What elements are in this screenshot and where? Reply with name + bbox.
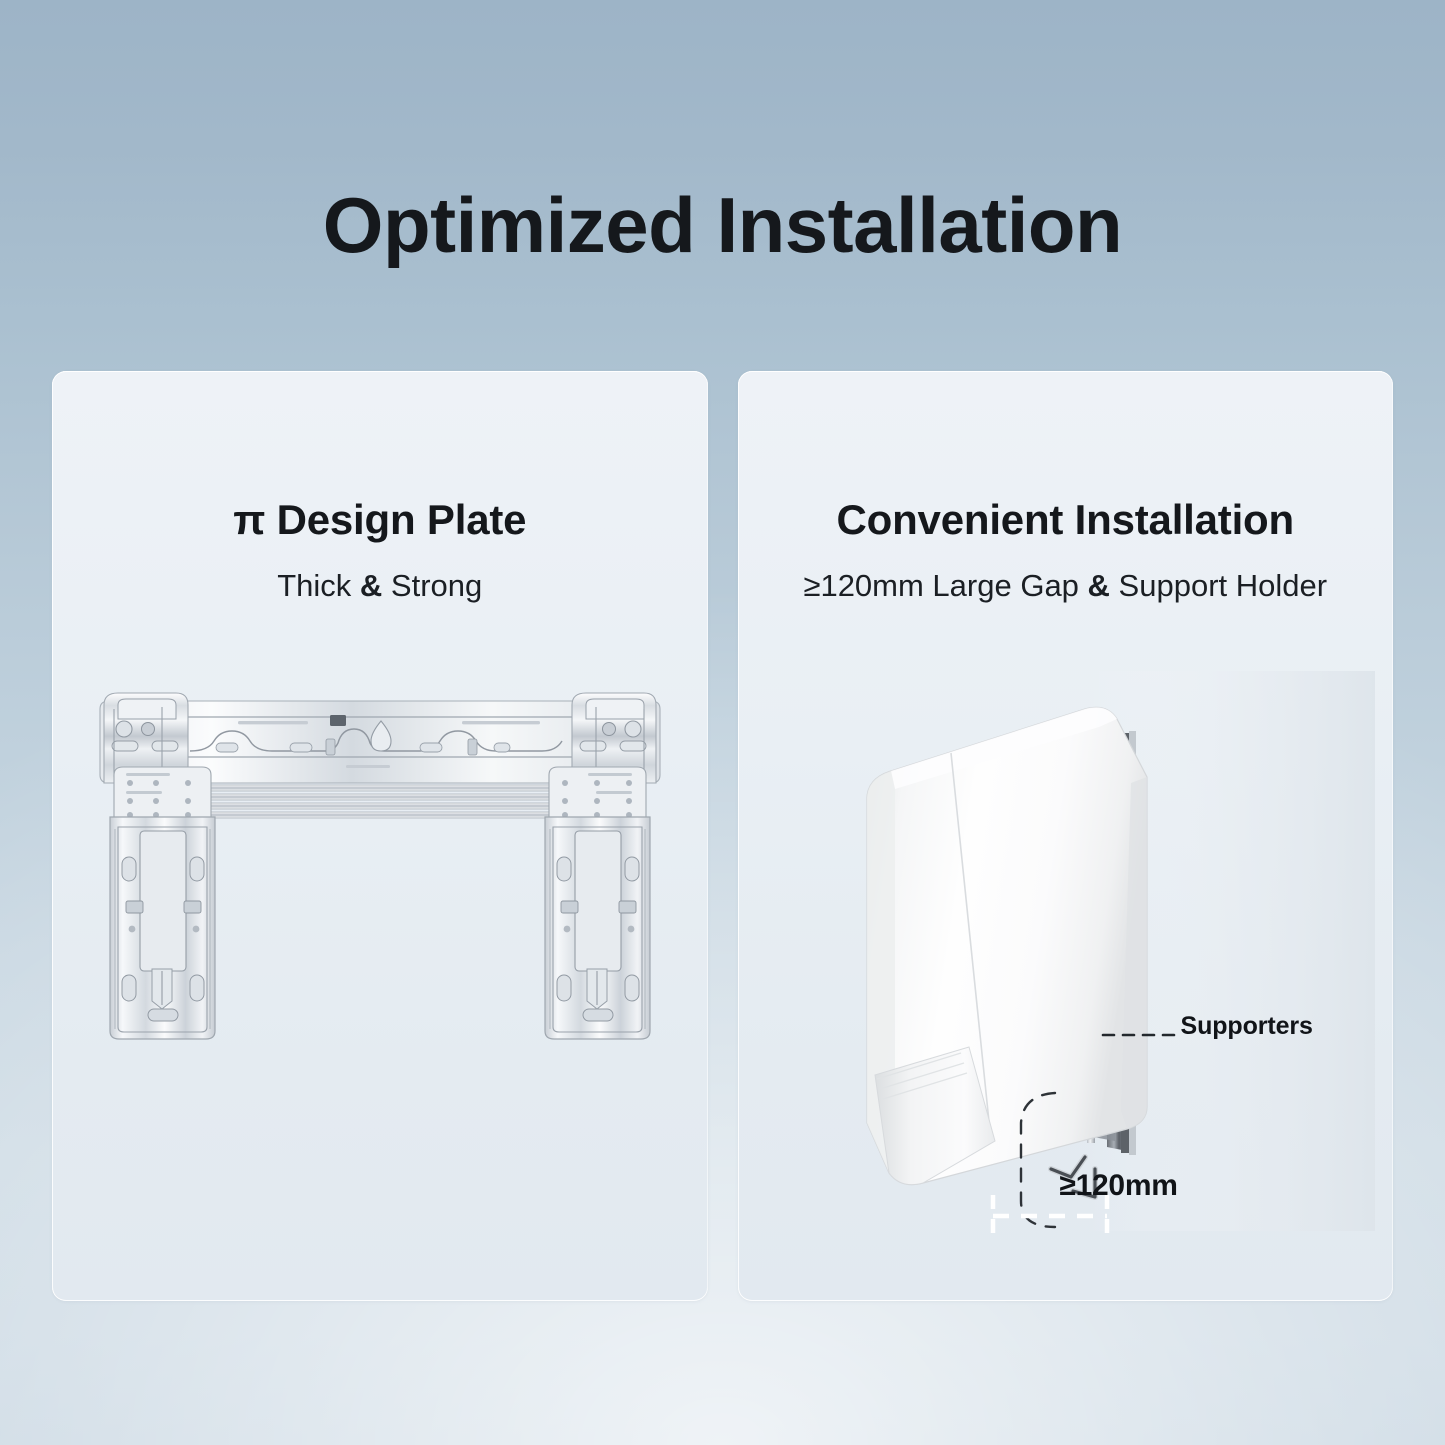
plate-rib-band [162,785,598,818]
ac-indoor-unit [867,707,1147,1184]
plate-left-leg [110,767,215,1039]
subtitle-text-part1: ≥120mm Large Gap [803,568,1087,603]
subtitle-text-part2: Strong [382,568,482,603]
card-heading-design-plate: π Design Plate [52,499,708,541]
page-title: Optimized Installation [0,186,1445,264]
card-subtitle-convenient-installation: ≥120mm Large Gap & Support Holder [738,570,1394,601]
card-heading-convenient-installation: Convenient Installation [738,499,1394,541]
ac-unit-illustration [755,671,1375,1231]
subtitle-text-part2: Support Holder [1110,568,1327,603]
subtitle-ampersand: & [1088,568,1110,603]
plate-right-leg [545,767,650,1039]
subtitle-ampersand: & [360,568,382,603]
card-convenient-installation: Convenient Installation ≥120mm Large Gap… [738,371,1394,1301]
feature-cards-row: π Design Plate Thick & Strong [52,371,1393,1301]
product-feature-banner: Optimized Installation π Design Plate Th… [0,0,1445,1445]
callout-label-supporters: Supporters [1181,1012,1313,1041]
mounting-plate-illustration [90,679,670,1059]
mounting-plate-image [90,679,670,1059]
callout-label-gap: ≥120mm [1060,1169,1178,1203]
ac-unit-image [755,671,1375,1231]
card-subtitle-design-plate: Thick & Strong [52,570,708,601]
card-design-plate: π Design Plate Thick & Strong [52,371,708,1301]
subtitle-text-part1: Thick [277,568,360,603]
